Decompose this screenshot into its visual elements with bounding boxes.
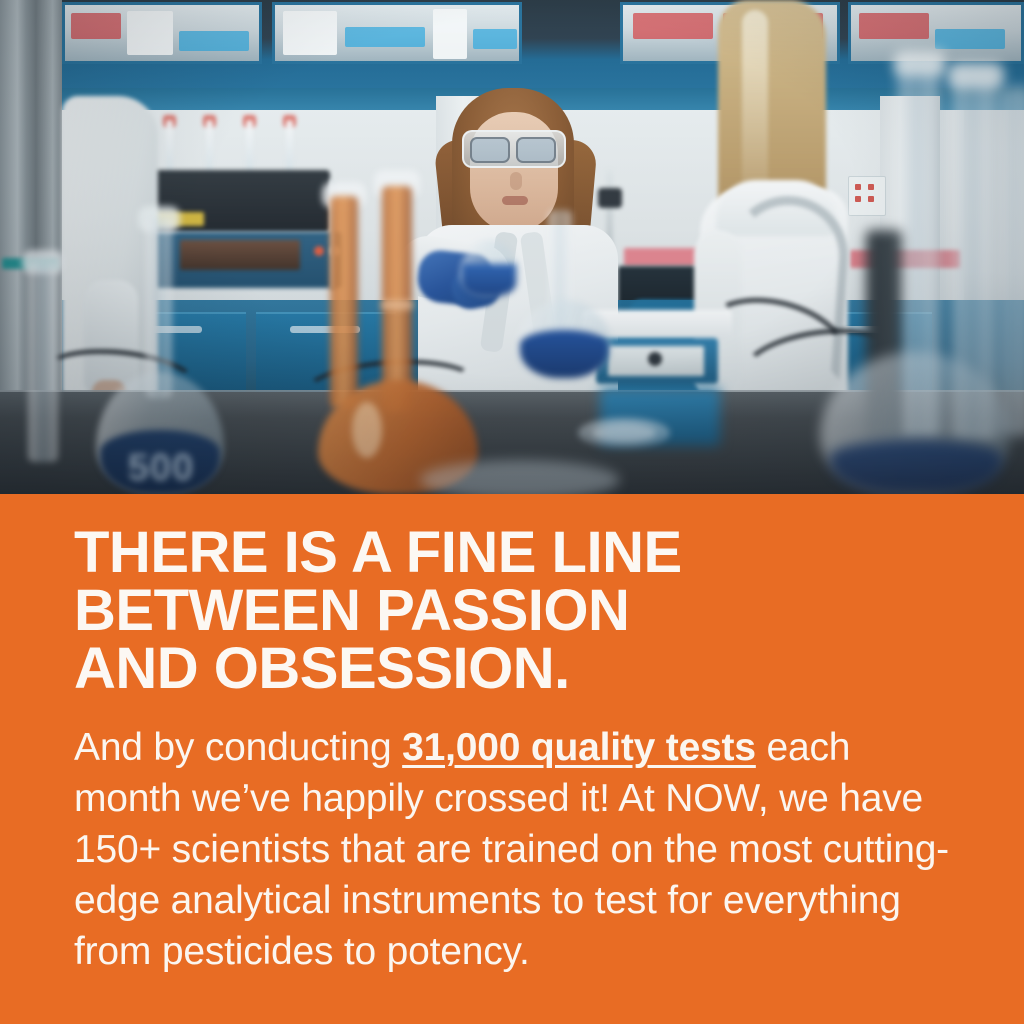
graduated-cylinder: [28, 262, 58, 462]
cabinet-stock-item: [433, 9, 467, 59]
cabinet-stock-item: [633, 13, 713, 39]
headline-line-3: AND OBSESSION.: [74, 640, 954, 698]
status-led: [314, 246, 324, 256]
outlet-indicator: [855, 184, 861, 190]
outlet-indicator: [868, 196, 874, 202]
social-poster: 500 THERE IS A FINE LINE BETWEEN PASSION…: [0, 0, 1024, 1024]
headline: THERE IS A FINE LINE BETWEEN PASSION AND…: [74, 524, 954, 698]
cabinet-stock-item: [283, 11, 337, 55]
cabinet-stock-item: [345, 27, 425, 47]
blue-solution: [830, 440, 1002, 494]
cabinet-stock-item: [179, 31, 249, 51]
goggle-lens: [470, 137, 510, 163]
cylinder-stopper: [948, 62, 1004, 88]
cabinet-stock-item: [859, 13, 929, 39]
headline-line-2: BETWEEN PASSION: [74, 582, 954, 640]
goggle-lens: [516, 137, 556, 163]
cabinet-stock-item: [935, 29, 1005, 49]
lab-photo: 500: [0, 0, 1024, 494]
balance-knob: [648, 352, 662, 366]
cabinet-stock-item: [71, 13, 121, 39]
body-text-part-1: And by conducting: [74, 726, 402, 769]
outlet-indicator: [868, 184, 874, 190]
outlet-indicator: [855, 196, 861, 202]
scientist-mouth: [502, 196, 528, 205]
graduated-cylinder: [1000, 86, 1024, 436]
scientist-nose: [510, 172, 522, 190]
flask-neck: [382, 186, 412, 412]
orange-text-panel: THERE IS A FINE LINE BETWEEN PASSION AND…: [0, 494, 1024, 1024]
calibration-mark: [380, 300, 414, 310]
blue-solution: [520, 330, 608, 378]
quality-tests-highlight: 31,000 quality tests: [402, 726, 756, 769]
flask-neck: [146, 218, 172, 398]
petri-dish-lid: [592, 424, 656, 442]
wall-outlet-panel: [848, 176, 886, 216]
glass-highlight: [352, 402, 382, 458]
stand-clamp: [598, 188, 622, 208]
flask-volume-label: 500: [118, 448, 204, 488]
foreground-bokeh: [420, 460, 620, 494]
cabinet-pane-2: [272, 2, 522, 64]
cabinet-pane-1: [62, 2, 262, 64]
cabinet-stock-item: [473, 29, 517, 49]
cylinder-stopper: [894, 50, 946, 76]
cabinet-stock-item: [127, 11, 173, 55]
instrument-display: [180, 240, 300, 270]
headline-line-1: THERE IS A FINE LINE: [74, 524, 954, 582]
blue-solution: [462, 264, 516, 296]
body-paragraph: And by conducting 31,000 quality tests e…: [74, 722, 954, 977]
flask-neck: [330, 196, 358, 408]
